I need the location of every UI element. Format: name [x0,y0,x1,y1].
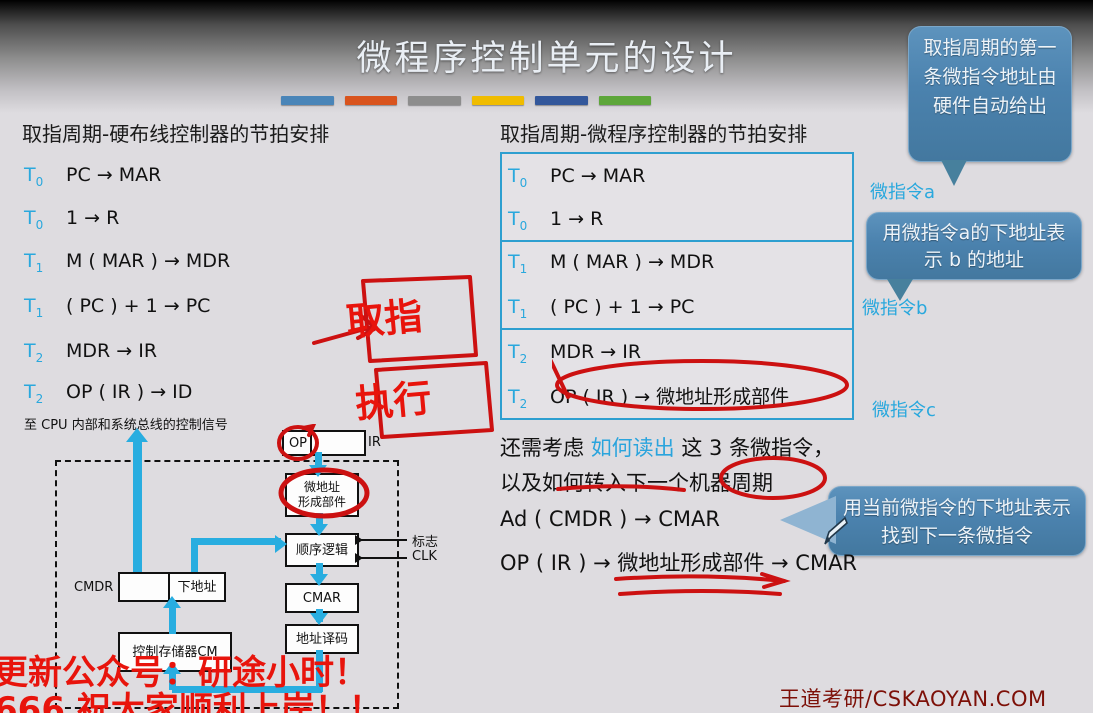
right-step-1-0: T1M ( MAR ) → MDR [508,251,714,276]
micro-operation-expression: PC → MAR [66,164,161,186]
callout-first-microinstruction-address: 取指周期的第一条微指令地址由硬件自动给出 [908,26,1072,162]
callout-next-address-b: 用微指令a的下地址表示 b 的地址 [866,212,1082,280]
micro-operation-expression: MDR → IR [550,341,641,363]
right-step-0-0: T0PC → MAR [508,165,645,190]
timing-label: T2 [24,381,66,406]
watermark-line-2: 666 祝大家顺利上岸！！ [0,682,383,713]
micro-operation-expression: 1 → R [550,208,603,230]
timing-label: T2 [508,341,550,366]
arrow-unit-to-logic-head [310,524,328,536]
micro-operation-expression: MDR → IR [66,340,157,362]
accent-bar-3 [472,96,525,105]
timing-label: T1 [508,251,550,276]
timing-label: T1 [24,295,66,320]
arrow-cm-to-cmdr-head [163,596,181,608]
callout-tail [941,160,967,186]
brand-watermark: 王道考研/CSKAOYAN.COM [779,683,1047,713]
timing-label: T0 [24,164,66,189]
prose-line-4: OP ( IR ) → 微地址形成部件 → CMAR [500,547,857,577]
timing-label: T1 [508,296,550,321]
callout-text: 用当前微指令的下地址表示找到下一条微指令 [843,497,1071,547]
prose-text-a: 还需考虑 [500,436,584,460]
arrow-control-signals-out [133,438,142,572]
accent-bar-1 [345,96,398,105]
slide-canvas: 微程序控制单元的设计 取指周期-硬布线控制器的节拍安排 T0PC → MART0… [0,0,1093,713]
arrow-cm-to-cmdr [169,604,176,634]
left-step-3: T1( PC ) + 1 → PC [24,295,210,320]
sequence-logic-box: 顺序逻辑 [285,533,359,567]
cmdr-label: CMDR [74,580,113,595]
callout-current-next-address: 用当前微指令的下地址表示找到下一条微指令 [828,486,1086,556]
right-step-2-0: T2MDR → IR [508,341,641,366]
callout-text: 用微指令a的下地址表示 b 的地址 [883,222,1066,271]
micro-operation-expression: M ( MAR ) → MDR [550,251,714,273]
micro-operation-expression: OP ( IR ) → 微地址形成部件 [550,382,789,409]
micro-operation-expression: OP ( IR ) → ID [66,381,192,403]
timing-label: T0 [508,208,550,233]
callout-tail [887,279,913,301]
prose-text-c: 这 3 条微指令， [681,436,834,460]
left-column-heading: 取指周期-硬布线控制器的节拍安排 [22,118,329,147]
timing-label: T2 [508,386,550,411]
clk-label: CLK [412,549,437,564]
right-step-2-1: T2OP ( IR ) → 微地址形成部件 [508,382,789,411]
flag-arrow [355,535,363,545]
micro-address-form-unit-label: 微地址 形成部件 [298,480,346,510]
accent-bar-2 [408,96,461,105]
micro-instruction-label-a: 微指令a [870,178,935,204]
left-step-4: T2MDR → IR [24,340,157,365]
accent-bar-0 [281,96,334,105]
arrow-nextaddr-right [191,538,281,545]
ir-label: IR [368,435,381,450]
accent-bar-5 [599,96,652,105]
clk-arrow [355,553,363,563]
flag-label: 标志 [412,531,438,550]
arrow-ir-to-unit-head [309,465,327,477]
micro-operation-expression: ( PC ) + 1 → PC [550,296,694,318]
arrow-logic-to-cmar-head [310,574,328,586]
prose-highlight-read: 如何读出 [591,436,675,460]
micro-address-form-unit: 微地址 形成部件 [285,473,359,517]
timing-label: T1 [24,250,66,275]
prose-line-1: 还需考虑 如何读出 这 3 条微指令， [500,432,834,462]
right-step-1-1: T1( PC ) + 1 → PC [508,296,694,321]
accent-bar-row [281,96,651,105]
left-step-0: T0PC → MAR [24,164,161,189]
handwriting-fetch-text: 取指 [344,285,425,346]
prose-line-2: 以及如何转入下一个机器周期 [500,467,773,497]
arrow-nextaddr-head [275,535,287,553]
callout-text: 取指周期的第一条微指令地址由硬件自动给出 [923,37,1056,117]
handwriting-exec-text: 执行 [353,367,434,428]
timing-label: T2 [24,340,66,365]
left-step-1: T01 → R [24,207,119,232]
micro-instruction-label-c: 微指令c [872,396,936,422]
right-column-heading: 取指周期-微程序控制器的节拍安排 [500,118,807,147]
timing-label: T0 [508,165,550,190]
left-step-5: T2OP ( IR ) → ID [24,381,192,406]
accent-bar-4 [535,96,588,105]
prose-line-3: Ad ( CMDR ) → CMAR [500,507,720,531]
arrow-control-signals-head [126,428,148,442]
micro-operation-expression: 1 → R [66,207,119,229]
micro-operation-expression: M ( MAR ) → MDR [66,250,230,272]
right-step-0-1: T01 → R [508,208,603,233]
arrow-cmar-to-decode-head [310,613,328,625]
timing-label: T0 [24,207,66,232]
left-step-2: T1M ( MAR ) → MDR [24,250,230,275]
micro-operation-expression: ( PC ) + 1 → PC [66,295,210,317]
micro-operation-expression: PC → MAR [550,165,645,187]
